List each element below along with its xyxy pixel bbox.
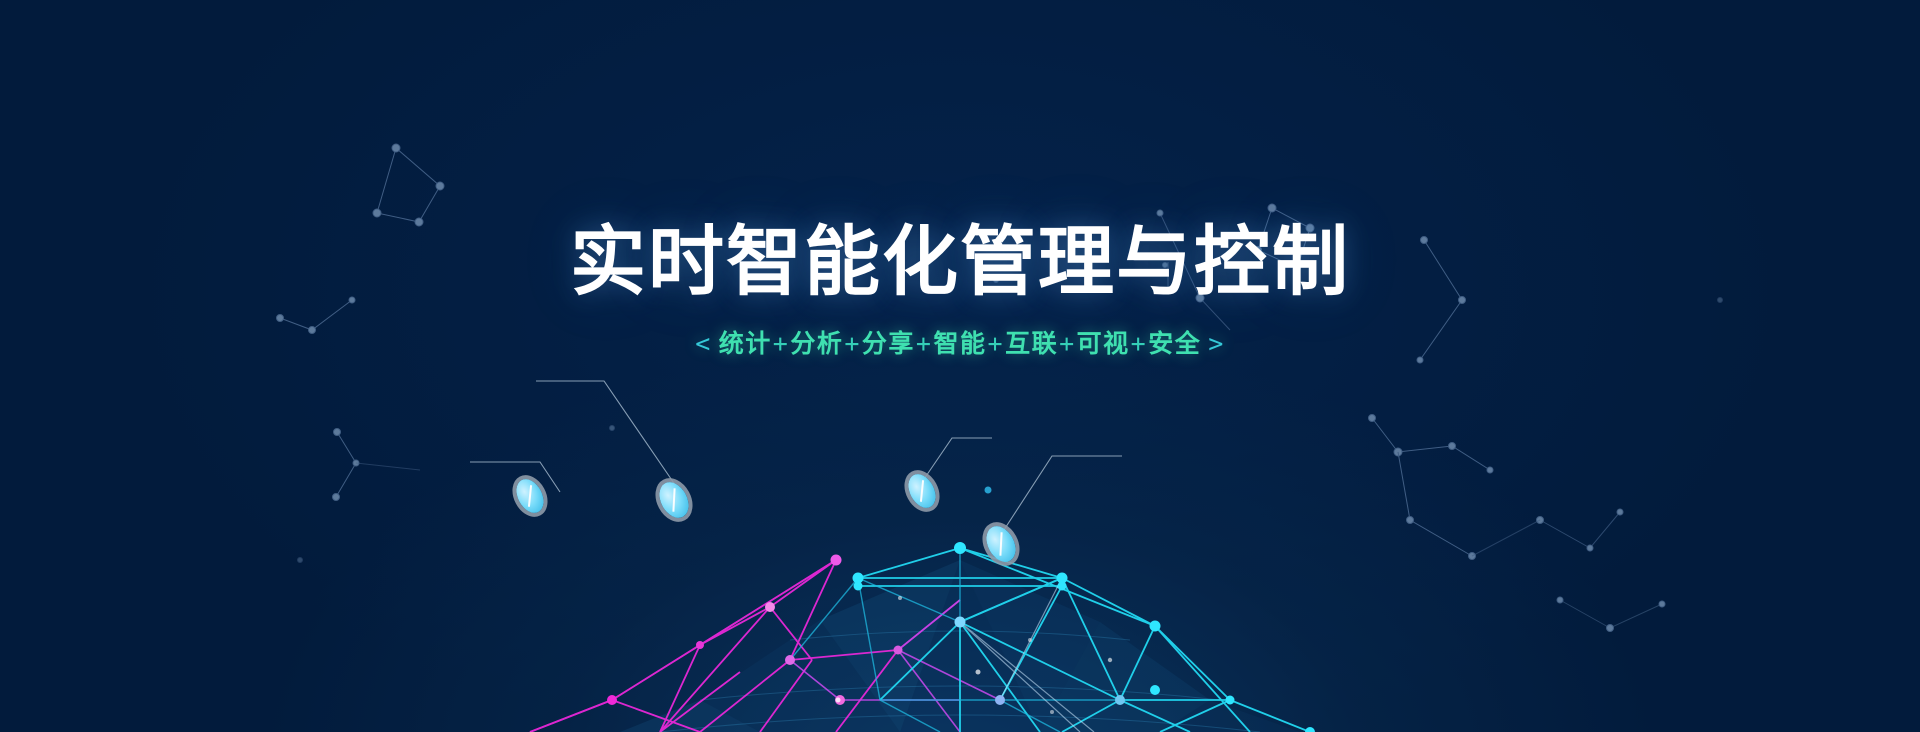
tagline-keyword: 智能 bbox=[933, 329, 986, 358]
tagline-open-bracket: < bbox=[688, 329, 719, 358]
tagline-separator: + bbox=[1058, 329, 1077, 358]
tagline-separator: + bbox=[772, 329, 791, 358]
tagline-separator: + bbox=[843, 329, 862, 358]
tagline-separator: + bbox=[987, 329, 1006, 358]
tagline: <统计+分析+分享+智能+互联+可视+安全> bbox=[0, 324, 1920, 360]
tagline-keyword: 可视 bbox=[1077, 329, 1130, 358]
tagline-close-bracket: > bbox=[1201, 329, 1232, 358]
title-block: 实时智能化管理与控制 <统计+分析+分享+智能+互联+可视+安全> bbox=[0, 222, 1920, 360]
hero-text-block: 实时智能化管理与控制 <统计+分析+分享+智能+互联+可视+安全> bbox=[0, 0, 1920, 732]
tagline-separator: + bbox=[915, 329, 934, 358]
tagline-keyword: 安全 bbox=[1148, 329, 1201, 358]
tagline-keyword: 互联 bbox=[1005, 329, 1058, 358]
tagline-separator: + bbox=[1130, 329, 1149, 358]
page-title: 实时智能化管理与控制 bbox=[0, 222, 1920, 302]
tagline-keyword: 分析 bbox=[790, 329, 843, 358]
tagline-keyword: 统计 bbox=[719, 329, 772, 358]
tagline-keyword: 分享 bbox=[862, 329, 915, 358]
hero-banner: MES开发实施 硬件采集&控制 WMS开发实施 其他定制化开发 实时智能化管理与… bbox=[0, 0, 1920, 732]
